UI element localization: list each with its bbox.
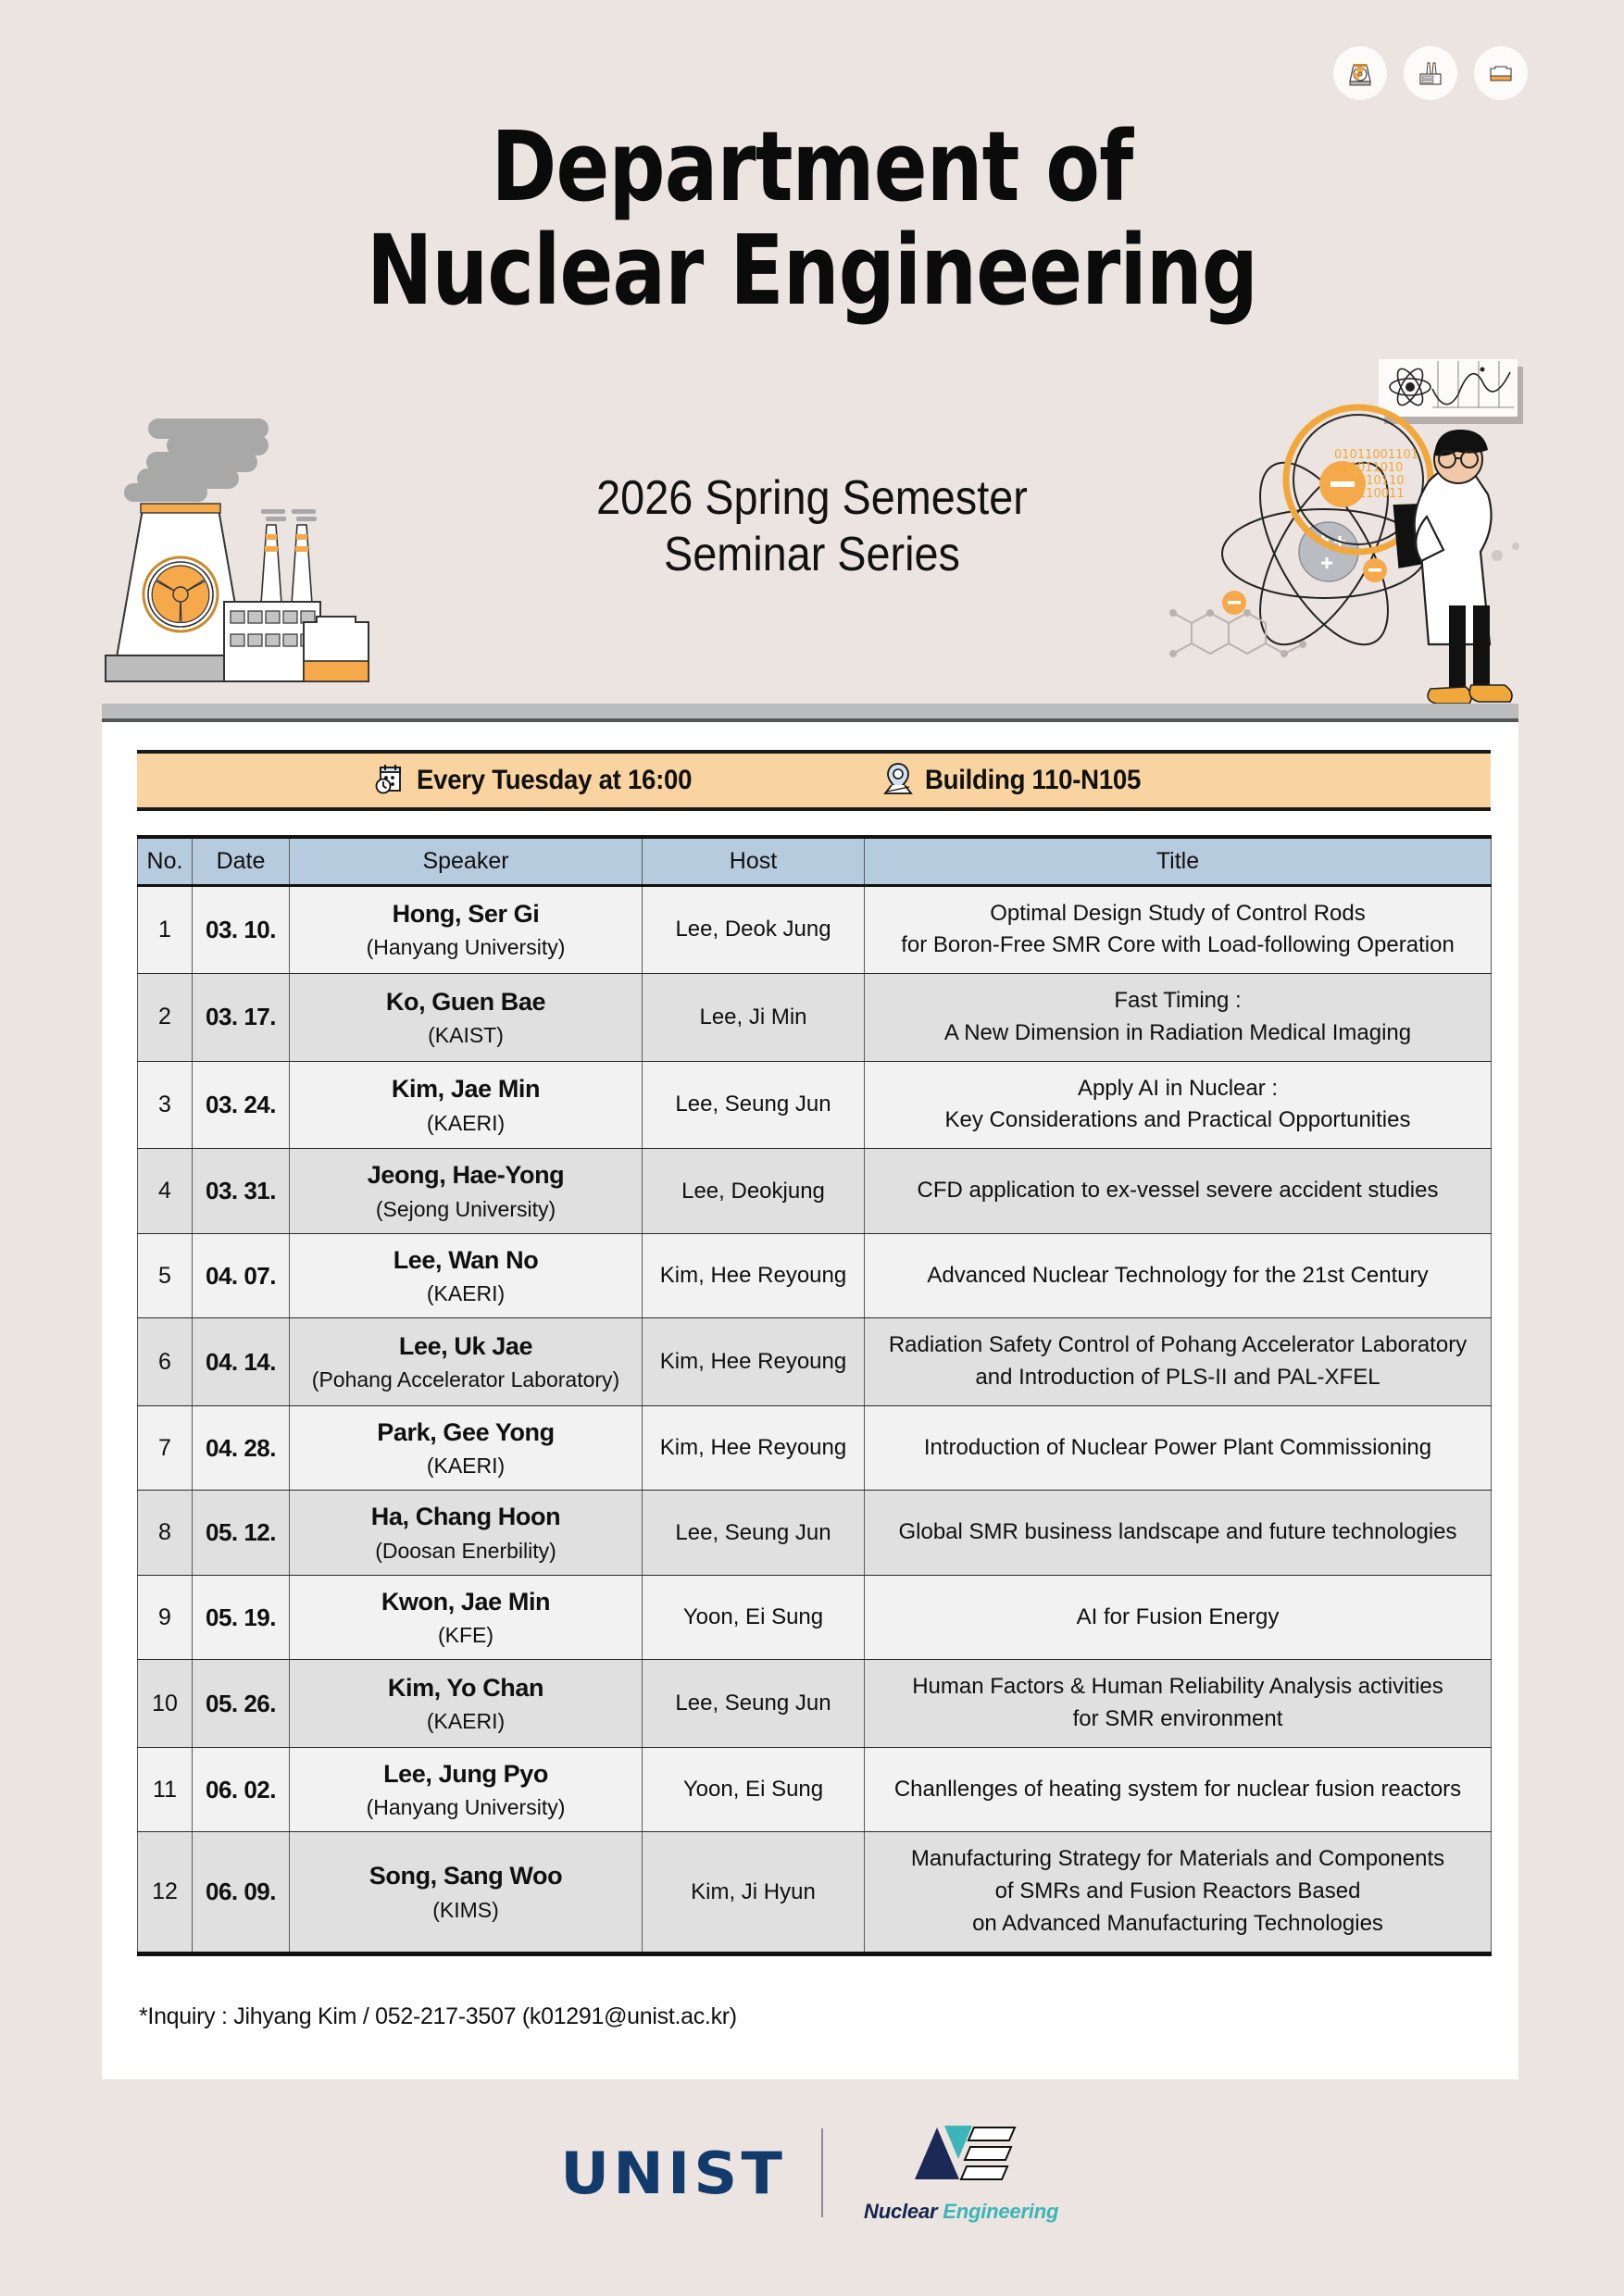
- power-plant-icon: [1404, 46, 1457, 100]
- cell-title: Chanllenges of heating system for nuclea…: [865, 1747, 1492, 1831]
- cell-date: 05. 19.: [193, 1575, 290, 1659]
- calendar-clock-icon: [372, 762, 406, 800]
- page-title: Department of Nuclear Engineering: [146, 119, 1478, 318]
- cell-host: Yoon, Ei Sung: [643, 1575, 865, 1659]
- footer-divider: [821, 2128, 823, 2217]
- speaker-name: Jeong, Hae-Yong: [295, 1158, 636, 1192]
- badge-row: [1333, 46, 1528, 100]
- cell-date: 04. 14.: [193, 1318, 290, 1406]
- cell-no: 5: [138, 1233, 193, 1317]
- title-line: CFD application to ex-vessel severe acci…: [878, 1175, 1478, 1207]
- title-line: Human Factors & Human Reliability Analys…: [878, 1671, 1478, 1703]
- cell-title: Radiation Safety Control of Pohang Accel…: [865, 1318, 1492, 1406]
- table-row: 805. 12.Ha, Chang Hoon(Doosan Enerbility…: [138, 1491, 1492, 1575]
- title-line: Introduction of Nuclear Power Plant Comm…: [878, 1432, 1478, 1465]
- title-line: Key Considerations and Practical Opportu…: [878, 1104, 1478, 1137]
- col-header-date: Date: [193, 837, 290, 885]
- table-row: 1005. 26.Kim, Yo Chan(KAERI)Lee, Seung J…: [138, 1660, 1492, 1748]
- cell-date: 03. 17.: [193, 974, 290, 1062]
- title-line: Advanced Nuclear Technology for the 21st…: [878, 1260, 1478, 1292]
- cell-speaker: Park, Gee Yong(KAERI): [290, 1405, 643, 1490]
- title-line: and Introduction of PLS-II and PAL-XFEL: [878, 1362, 1478, 1394]
- inquiry-note: *Inquiry : Jihyang Kim / 052-217-3507 (k…: [139, 2003, 737, 2030]
- cell-no: 9: [138, 1575, 193, 1659]
- cell-date: 05. 12.: [193, 1491, 290, 1575]
- title-line: of SMRs and Fusion Reactors Based: [878, 1876, 1478, 1908]
- cell-speaker: Ha, Chang Hoon(Doosan Enerbility): [290, 1491, 643, 1575]
- unist-logo: UNIST: [560, 2140, 786, 2207]
- speaker-name: Lee, Wan No: [295, 1243, 636, 1277]
- speaker-name: Kim, Yo Chan: [295, 1671, 636, 1704]
- cell-speaker: Song, Sang Woo(KIMS): [290, 1832, 643, 1953]
- speaker-name: Hong, Ser Gi: [295, 897, 636, 930]
- seminar-time: Every Tuesday at 16:00: [372, 762, 716, 800]
- title-line: for Boron-Free SMR Core with Load-follow…: [878, 930, 1478, 962]
- cell-no: 2: [138, 974, 193, 1062]
- cell-speaker: Lee, Uk Jae(Pohang Accelerator Laborator…: [290, 1318, 643, 1406]
- seminar-time-text: Every Tuesday at 16:00: [417, 765, 692, 796]
- cell-title: Human Factors & Human Reliability Analys…: [865, 1660, 1492, 1748]
- cell-no: 12: [138, 1832, 193, 1953]
- reactor-building-icon: [1474, 46, 1528, 100]
- svg-text:01011001101: 01011001101: [1334, 448, 1418, 462]
- map-pin-icon: [882, 762, 914, 800]
- cell-host: Kim, Hee Reyoung: [643, 1233, 865, 1317]
- svg-text:010110: 010110: [1358, 474, 1405, 488]
- cell-speaker: Kim, Jae Min(KAERI): [290, 1061, 643, 1149]
- cell-speaker: Kim, Yo Chan(KAERI): [290, 1660, 643, 1748]
- table-row: 604. 14.Lee, Uk Jae(Pohang Accelerator L…: [138, 1318, 1492, 1406]
- title-line: Global SMR business landscape and future…: [878, 1516, 1478, 1549]
- scientist-atom-illustration: 01011001101 110011010 010110 110011: [1153, 341, 1523, 716]
- speaker-name: Ko, Guen Bae: [295, 985, 636, 1018]
- cell-title: Fast Timing :A New Dimension in Radiatio…: [865, 974, 1492, 1062]
- title-line: A New Dimension in Radiation Medical Ima…: [878, 1017, 1478, 1050]
- title-line: on Advanced Manufacturing Technologies: [878, 1908, 1478, 1940]
- cell-no: 7: [138, 1405, 193, 1490]
- cell-date: 03. 10.: [193, 885, 290, 974]
- cell-date: 05. 26.: [193, 1660, 290, 1748]
- cell-title: Introduction of Nuclear Power Plant Comm…: [865, 1405, 1492, 1490]
- col-header-host: Host: [643, 837, 865, 885]
- table-row: 303. 24.Kim, Jae Min(KAERI)Lee, Seung Ju…: [138, 1061, 1492, 1149]
- cell-speaker: Lee, Wan No(KAERI): [290, 1233, 643, 1317]
- cell-host: Kim, Ji Hyun: [643, 1832, 865, 1953]
- table-row: 403. 31.Jeong, Hae-Yong(Sejong Universit…: [138, 1149, 1492, 1233]
- cell-speaker: Jeong, Hae-Yong(Sejong University): [290, 1149, 643, 1233]
- footer-logos: UNIST Nuclear Engineering: [0, 2122, 1624, 2224]
- poster-root: Department of Nuclear Engineering 2026 S…: [0, 0, 1624, 2296]
- schedule-table-wrapper: No. Date Speaker Host Title 103. 10.Hong…: [137, 835, 1491, 1956]
- cell-no: 6: [138, 1318, 193, 1406]
- cell-title: Apply AI in Nuclear :Key Considerations …: [865, 1061, 1492, 1149]
- cell-speaker: Kwon, Jae Min(KFE): [290, 1575, 643, 1659]
- title-line: AI for Fusion Energy: [878, 1602, 1478, 1634]
- cell-date: 03. 24.: [193, 1061, 290, 1149]
- cell-title: AI for Fusion Energy: [865, 1575, 1492, 1659]
- cell-host: Lee, Seung Jun: [643, 1061, 865, 1149]
- cell-host: Yoon, Ei Sung: [643, 1747, 865, 1831]
- cell-title: CFD application to ex-vessel severe acci…: [865, 1149, 1492, 1233]
- speaker-affiliation: (KAIST): [295, 1021, 636, 1050]
- cell-speaker: Ko, Guen Bae(KAIST): [290, 974, 643, 1062]
- svg-text:110011010: 110011010: [1334, 461, 1403, 475]
- table-row: 1206. 09.Song, Sang Woo(KIMS)Kim, Ji Hyu…: [138, 1832, 1492, 1953]
- cell-title: Manufacturing Strategy for Materials and…: [865, 1832, 1492, 1953]
- cell-no: 8: [138, 1491, 193, 1575]
- speaker-name: Song, Sang Woo: [295, 1859, 636, 1892]
- cell-host: Lee, Deokjung: [643, 1149, 865, 1233]
- cell-no: 4: [138, 1149, 193, 1233]
- cell-no: 10: [138, 1660, 193, 1748]
- table-row: 504. 07.Lee, Wan No(KAERI)Kim, Hee Reyou…: [138, 1233, 1492, 1317]
- page-title-line1: Department of: [146, 119, 1478, 215]
- page-title-line2: Nuclear Engineering: [146, 222, 1478, 318]
- speaker-affiliation: (Hanyang University): [295, 933, 636, 962]
- title-line: Apply AI in Nuclear :: [878, 1073, 1478, 1105]
- cell-title: Optimal Design Study of Control Rodsfor …: [865, 885, 1492, 974]
- info-banner: Every Tuesday at 16:00 Building 110-N105: [137, 750, 1491, 811]
- speaker-affiliation: (KAERI): [295, 1279, 636, 1308]
- seminar-location-text: Building 110-N105: [925, 765, 1141, 796]
- title-line: Radiation Safety Control of Pohang Accel…: [878, 1329, 1478, 1362]
- speaker-name: Kwon, Jae Min: [295, 1585, 636, 1618]
- speaker-affiliation: (KFE): [295, 1621, 636, 1650]
- col-header-title: Title: [865, 837, 1492, 885]
- title-line: for SMR environment: [878, 1703, 1478, 1736]
- title-line: Fast Timing :: [878, 985, 1478, 1017]
- table-row: 905. 19.Kwon, Jae Min(KFE)Yoon, Ei SungA…: [138, 1575, 1492, 1659]
- schedule-table: No. Date Speaker Host Title 103. 10.Hong…: [137, 835, 1492, 1956]
- cell-no: 1: [138, 885, 193, 974]
- speaker-name: Park, Gee Yong: [295, 1416, 636, 1449]
- speaker-affiliation: (KAERI): [295, 1109, 636, 1138]
- cell-title: Global SMR business landscape and future…: [865, 1491, 1492, 1575]
- speaker-name: Lee, Uk Jae: [295, 1329, 636, 1363]
- speaker-affiliation: (KAERI): [295, 1707, 636, 1736]
- speaker-affiliation: (Sejong University): [295, 1195, 636, 1224]
- title-line: Optimal Design Study of Control Rods: [878, 898, 1478, 930]
- cell-host: Lee, Seung Jun: [643, 1660, 865, 1748]
- title-line: Chanllenges of heating system for nuclea…: [878, 1774, 1478, 1806]
- cell-speaker: Lee, Jung Pyo(Hanyang University): [290, 1747, 643, 1831]
- cell-no: 11: [138, 1747, 193, 1831]
- svg-text:110011: 110011: [1358, 487, 1405, 501]
- ne-caption-nuclear: Nuclear: [864, 2200, 943, 2223]
- seminar-location: Building 110-N105: [882, 762, 1159, 800]
- table-row: 704. 28.Park, Gee Yong(KAERI)Kim, Hee Re…: [138, 1405, 1492, 1490]
- cell-date: 06. 02.: [193, 1747, 290, 1831]
- cell-speaker: Hong, Ser Gi(Hanyang University): [290, 885, 643, 974]
- cell-host: Lee, Seung Jun: [643, 1491, 865, 1575]
- cell-host: Kim, Hee Reyoung: [643, 1318, 865, 1406]
- nuclear-engineering-logo: Nuclear Engineering: [864, 2122, 1058, 2224]
- table-row: 203. 17.Ko, Guen Bae(KAIST)Lee, Ji MinFa…: [138, 974, 1492, 1062]
- cell-host: Kim, Hee Reyoung: [643, 1405, 865, 1490]
- cell-date: 03. 31.: [193, 1149, 290, 1233]
- table-header-row: No. Date Speaker Host Title: [138, 837, 1492, 885]
- panel-top-strip: [102, 704, 1518, 722]
- table-row: 103. 10.Hong, Ser Gi(Hanyang University)…: [138, 885, 1492, 974]
- speaker-name: Kim, Jae Min: [295, 1072, 636, 1105]
- cell-date: 04. 28.: [193, 1405, 290, 1490]
- nuclear-engineering-caption: Nuclear Engineering: [864, 2200, 1058, 2224]
- speaker-affiliation: (Hanyang University): [295, 1793, 636, 1822]
- cooling-tower-icon: [1333, 46, 1387, 100]
- cell-host: Lee, Deok Jung: [643, 885, 865, 974]
- speaker-name: Ha, Chang Hoon: [295, 1500, 636, 1533]
- speaker-affiliation: (Doosan Enerbility): [295, 1537, 636, 1566]
- cell-no: 3: [138, 1061, 193, 1149]
- schedule-table-body: 103. 10.Hong, Ser Gi(Hanyang University)…: [138, 885, 1492, 1953]
- speaker-affiliation: (Pohang Accelerator Laboratory): [295, 1366, 636, 1394]
- nuclear-plant-illustration: [85, 400, 409, 710]
- speaker-name: Lee, Jung Pyo: [295, 1757, 636, 1791]
- cell-date: 06. 09.: [193, 1832, 290, 1953]
- cell-date: 04. 07.: [193, 1233, 290, 1317]
- title-line: Manufacturing Strategy for Materials and…: [878, 1843, 1478, 1876]
- cell-host: Lee, Ji Min: [643, 974, 865, 1062]
- speaker-affiliation: (KIMS): [295, 1896, 636, 1925]
- speaker-affiliation: (KAERI): [295, 1452, 636, 1480]
- table-row: 1106. 02.Lee, Jung Pyo(Hanyang Universit…: [138, 1747, 1492, 1831]
- cell-title: Advanced Nuclear Technology for the 21st…: [865, 1233, 1492, 1317]
- col-header-no: No.: [138, 837, 193, 885]
- col-header-speaker: Speaker: [290, 837, 643, 885]
- ne-caption-engineering: Engineering: [943, 2200, 1058, 2223]
